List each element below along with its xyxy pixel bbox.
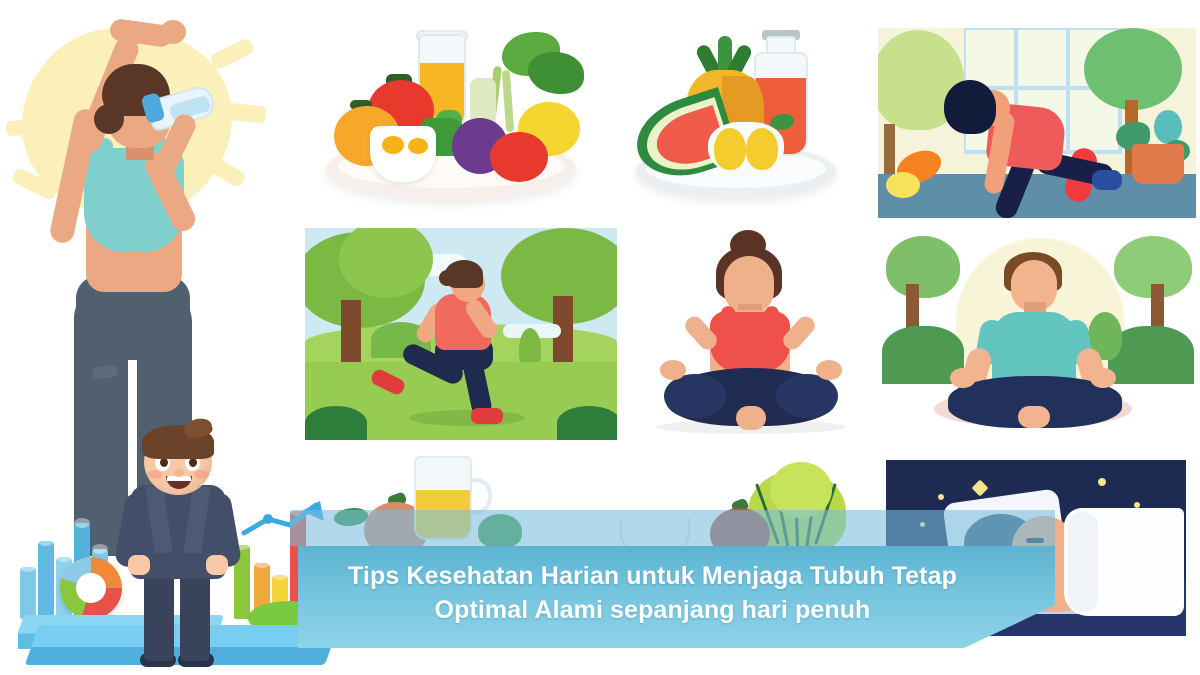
star-diamond-icon bbox=[972, 480, 989, 497]
hand-left bbox=[660, 360, 686, 380]
hand-left bbox=[128, 555, 150, 575]
foot bbox=[1018, 406, 1050, 428]
hair bbox=[445, 260, 483, 288]
window-pane bbox=[1018, 30, 1066, 86]
sun-ray-icon bbox=[209, 37, 256, 71]
hand-right bbox=[1090, 368, 1116, 388]
caption-line-2: Optimal Alami sepanjang hari penuh bbox=[348, 594, 957, 628]
tree-foliage bbox=[886, 236, 960, 298]
knee-left bbox=[664, 374, 726, 418]
tomato-slice bbox=[490, 132, 548, 182]
sun-ray-icon bbox=[6, 119, 47, 137]
egg-yolk bbox=[382, 136, 404, 154]
egg-bowl bbox=[370, 126, 436, 182]
poster-canvas: Tips Kesehatan Harian untuk Menjaga Tubu… bbox=[0, 0, 1200, 675]
mascot-figure bbox=[122, 445, 234, 661]
knee-right bbox=[776, 374, 838, 418]
fruit-prop bbox=[886, 172, 920, 198]
leg-left bbox=[144, 567, 174, 661]
plant-leaf bbox=[1154, 110, 1182, 144]
hand-right bbox=[816, 360, 842, 380]
illustration-man-meditating-outdoors bbox=[878, 228, 1196, 440]
cheek-left bbox=[147, 470, 162, 479]
hand-right bbox=[206, 555, 228, 575]
caption-line-1: Tips Kesehatan Harian untuk Menjaga Tubu… bbox=[348, 562, 957, 590]
caption-banner: Tips Kesehatan Harian untuk Menjaga Tubu… bbox=[298, 546, 1055, 648]
illustration-indoor-stretching bbox=[878, 28, 1196, 218]
chart-bar bbox=[38, 541, 54, 619]
hair bbox=[944, 80, 996, 134]
leafy-green bbox=[528, 52, 584, 94]
illustration-jogging-in-park bbox=[305, 228, 617, 440]
chart-bar bbox=[20, 567, 36, 619]
caption-text: Tips Kesehatan Harian untuk Menjaga Tubu… bbox=[326, 560, 1027, 634]
citrus-segment bbox=[714, 128, 746, 170]
foot bbox=[736, 406, 766, 430]
pupil-left bbox=[160, 458, 168, 467]
star-icon bbox=[1098, 478, 1106, 486]
hand-left bbox=[950, 368, 976, 388]
runner-shadow bbox=[409, 410, 525, 426]
quilt-fold bbox=[1068, 512, 1098, 612]
tree-trunk bbox=[884, 124, 895, 178]
tree-foliage bbox=[1084, 28, 1182, 110]
illustration-healthy-food-plate bbox=[312, 18, 590, 214]
celery-stalk bbox=[502, 70, 514, 132]
cheek-right bbox=[194, 470, 209, 479]
hair-bun bbox=[94, 104, 124, 134]
hand-raised bbox=[160, 20, 186, 44]
running-shoe bbox=[471, 408, 503, 424]
star-icon bbox=[938, 494, 944, 500]
pupil-right bbox=[189, 458, 197, 467]
nose bbox=[174, 469, 184, 477]
citrus-segment bbox=[746, 128, 778, 170]
egg-yolk bbox=[408, 138, 428, 154]
illustration-fruit-plate bbox=[630, 18, 848, 214]
window-pane bbox=[966, 30, 1014, 86]
bush bbox=[557, 406, 617, 440]
donut-chart-hole bbox=[76, 573, 106, 603]
shoe bbox=[1092, 170, 1122, 190]
leg-right bbox=[180, 567, 210, 661]
flower-pot bbox=[1132, 144, 1184, 184]
caption-translucent-strip bbox=[290, 510, 1055, 546]
illustration-woman-meditating bbox=[648, 228, 854, 440]
